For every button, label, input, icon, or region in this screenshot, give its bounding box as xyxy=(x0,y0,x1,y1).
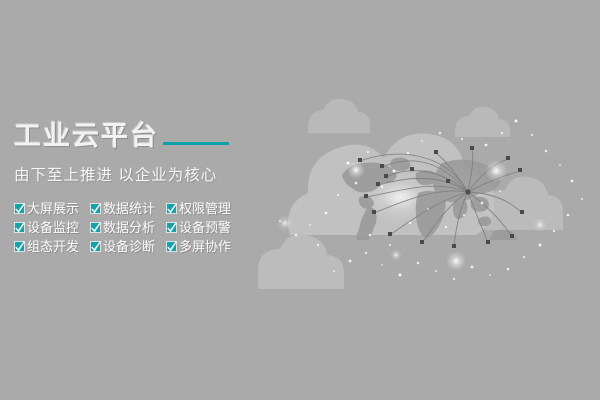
connection-arcs xyxy=(360,149,522,247)
feature-item-1[interactable]: 大屏展示 xyxy=(14,199,86,218)
feature-item-7[interactable]: 组态开发 xyxy=(14,237,86,256)
page-subtitle: 由下至上推进 以企业为核心 xyxy=(14,163,250,185)
feature-label: 组态开发 xyxy=(27,240,79,253)
check-icon xyxy=(90,241,101,252)
check-icon xyxy=(166,241,177,252)
feature-item-5[interactable]: 数据分析 xyxy=(90,218,162,237)
feature-label: 大屏展示 xyxy=(27,202,79,215)
sparkle-glows xyxy=(277,160,547,271)
cloud-shape-bottom-left xyxy=(258,234,344,289)
feature-label: 设备预警 xyxy=(179,221,231,234)
check-icon xyxy=(166,222,177,233)
cloud-shape-main xyxy=(288,134,494,236)
feature-item-8[interactable]: 设备诊断 xyxy=(90,237,162,256)
feature-label: 多屏协作 xyxy=(179,240,231,253)
network-nodes xyxy=(358,146,524,248)
feature-label: 数据统计 xyxy=(103,202,155,215)
feature-label: 权限管理 xyxy=(179,202,231,215)
title-row: 工业云平台 xyxy=(14,118,250,154)
check-icon xyxy=(14,203,25,214)
check-icon xyxy=(166,203,177,214)
cloud-world-network-illustration xyxy=(250,75,600,305)
check-icon xyxy=(14,241,25,252)
feature-item-6[interactable]: 设备预警 xyxy=(166,218,242,237)
promo-banner: 工业云平台 由下至上推进 以企业为核心 大屏展示 数据统计 权限管理 设备监控 xyxy=(0,0,600,400)
check-icon xyxy=(90,222,101,233)
headline-block: 工业云平台 由下至上推进 以企业为核心 大屏展示 数据统计 权限管理 设备监控 xyxy=(14,118,250,256)
cloud-shape-right xyxy=(485,177,563,230)
feature-item-3[interactable]: 权限管理 xyxy=(166,199,242,218)
check-icon xyxy=(14,222,25,233)
feature-label: 设备诊断 xyxy=(103,240,155,253)
feature-label: 数据分析 xyxy=(103,221,155,234)
title-accent-rule xyxy=(163,142,229,145)
feature-item-9[interactable]: 多屏协作 xyxy=(166,237,242,256)
feature-list: 大屏展示 数据统计 权限管理 设备监控 数据分析 xyxy=(14,199,250,256)
page-title: 工业云平台 xyxy=(14,123,159,150)
feature-item-4[interactable]: 设备监控 xyxy=(14,218,86,237)
feature-item-2[interactable]: 数据统计 xyxy=(90,199,162,218)
cloud-shape-back xyxy=(308,99,510,137)
world-map xyxy=(342,157,524,257)
sparkle-dots xyxy=(279,120,583,281)
check-icon xyxy=(90,203,101,214)
network-hub-node xyxy=(465,189,470,194)
feature-label: 设备监控 xyxy=(27,221,79,234)
